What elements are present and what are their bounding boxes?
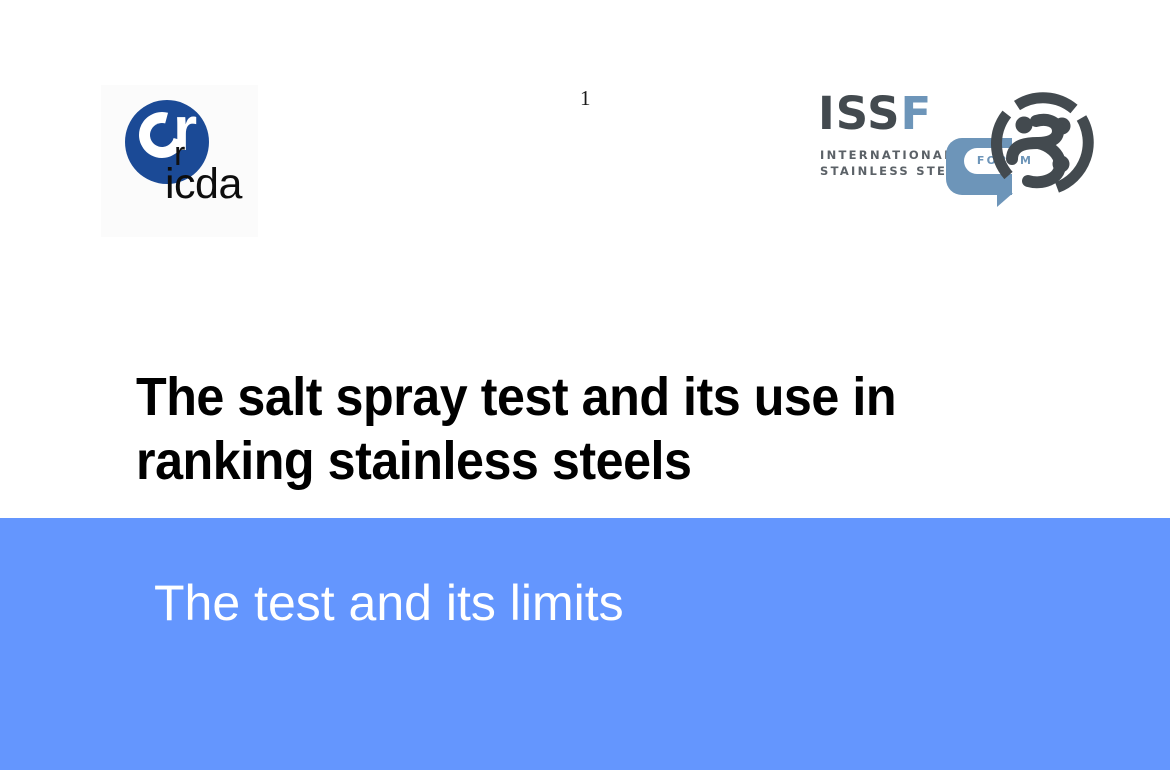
issf-logo: ISSF INTERNATIONAL STAINLESS STEEL FORUM — [818, 85, 1108, 200]
subtitle-band — [0, 518, 1170, 770]
icda-wordmark: icda — [165, 163, 242, 206]
issf-wordmark: ISSF — [818, 91, 932, 136]
page-title: The salt spray test and its use in ranki… — [136, 365, 973, 493]
issf-tagline: INTERNATIONAL STAINLESS STEEL — [820, 147, 967, 179]
issf-wordmark-accent: F — [901, 87, 933, 140]
page-subtitle: The test and its limits — [154, 573, 624, 633]
icda-logo: r r icda — [101, 85, 258, 237]
issf-wordmark-dark: ISS — [818, 87, 901, 140]
issf-tagline-line2: STAINLESS STEEL — [820, 163, 967, 179]
slide-canvas: r r icda 1 ISSF INTERNATIONAL STAINLESS … — [0, 0, 1170, 770]
issf-circular-mark-icon — [986, 87, 1100, 201]
issf-tagline-line1: INTERNATIONAL — [820, 147, 967, 163]
page-number: 1 — [580, 86, 591, 110]
